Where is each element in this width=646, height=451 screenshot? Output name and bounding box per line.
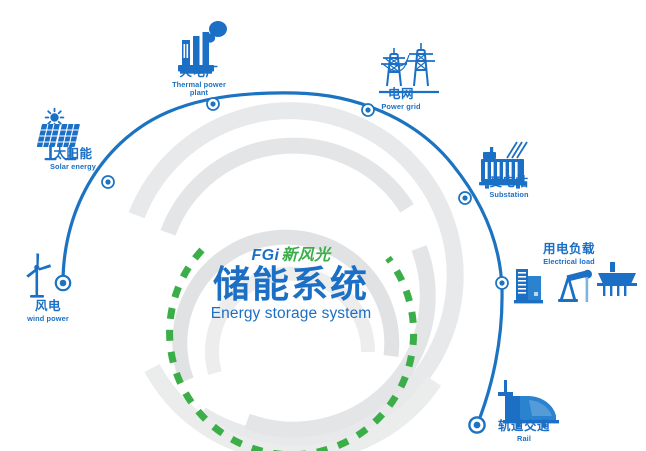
- buildings-pumpjack-factory-icon: [514, 262, 637, 303]
- train-icon: [498, 380, 559, 428]
- node-marker-wind-power[interactable]: [56, 276, 70, 290]
- node-marker-substation[interactable]: [459, 192, 471, 204]
- main-title-zh: 储能系统: [175, 266, 407, 304]
- smokestack-icon: [178, 21, 227, 74]
- node-marker-power-grid[interactable]: [362, 104, 374, 116]
- diagram-artwork: [0, 0, 646, 451]
- brand-logo: FGi新风光: [175, 248, 407, 264]
- brand-logo-chinese: 新风光: [281, 247, 330, 264]
- infographic-canvas: 风电 wind power 太阳能 Solar energy 火电厂 Therm…: [0, 0, 646, 451]
- node-marker-rail-transit[interactable]: [469, 417, 484, 432]
- main-title-en: Energy storage system: [175, 305, 407, 323]
- wind-turbine-icon: [26, 253, 51, 297]
- brand-logo-latin: FGi: [251, 247, 279, 264]
- center-title-block: FGi新风光 储能系统 Energy storage system: [175, 248, 407, 323]
- gray-ring-second: [168, 146, 407, 233]
- node-marker-solar-energy[interactable]: [102, 176, 114, 188]
- solar-panel-icon: [37, 109, 80, 161]
- node-marker-thermal-power-plant[interactable]: [207, 98, 219, 110]
- node-marker-electrical-load[interactable]: [496, 277, 508, 289]
- transmission-tower-icon: [379, 43, 439, 92]
- transformer-icon: [479, 142, 527, 189]
